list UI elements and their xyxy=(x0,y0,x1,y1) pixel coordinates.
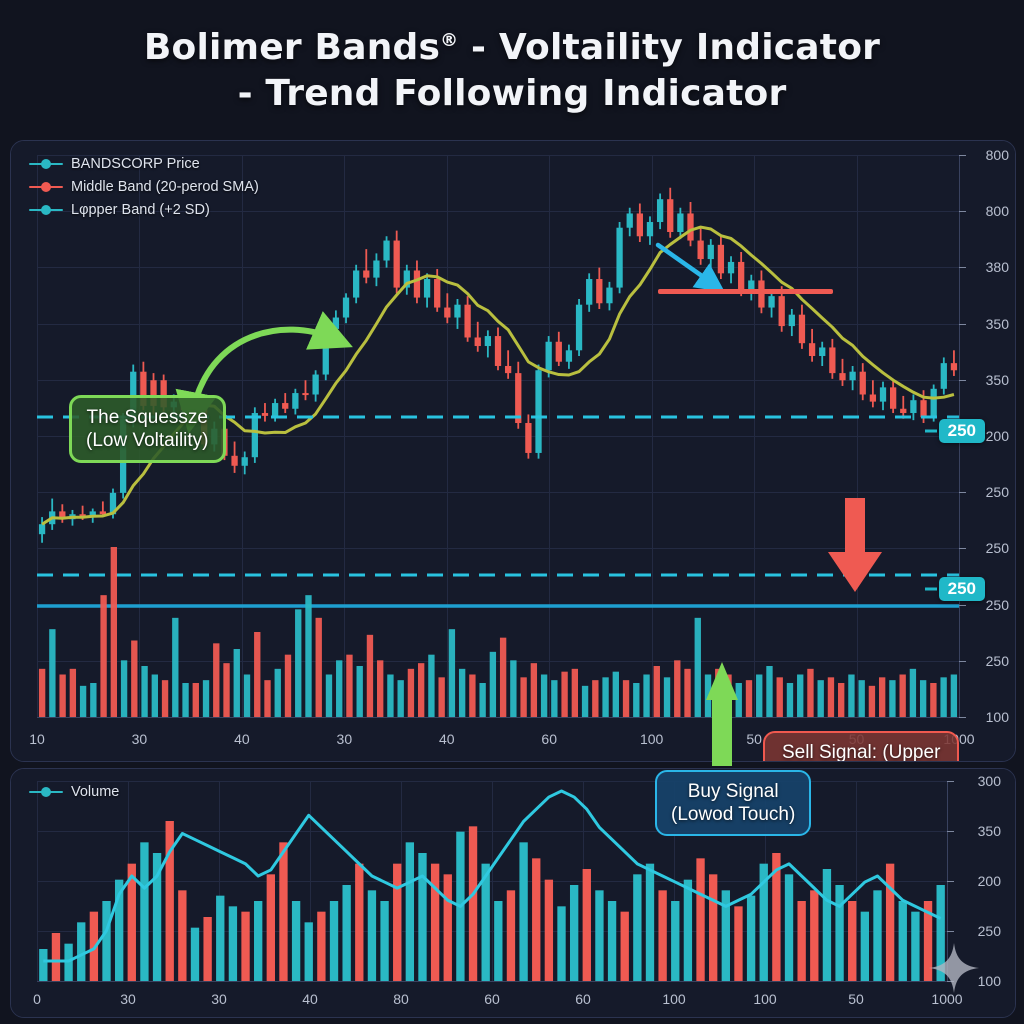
volume-y-tick-mark xyxy=(947,781,954,782)
main-y-tick-mark xyxy=(959,211,966,212)
chart-page: Bolimer Bands® - Voltaility Indicator - … xyxy=(0,0,1024,1024)
main-y-tick-label: 250 xyxy=(986,540,1009,556)
price-legend-item[interactable]: BANDSCORP Price xyxy=(29,153,259,174)
main-y-tick-mark xyxy=(959,605,966,606)
volume-chart-panel[interactable]: Volume 300350200250100 03030408060601001… xyxy=(10,768,1016,1018)
main-y-tick-mark xyxy=(959,267,966,268)
main-x-tick-label: 100 xyxy=(640,731,663,747)
volume-x-tick-label: 30 xyxy=(211,991,227,1007)
main-y-tick-mark xyxy=(959,661,966,662)
main-x-tick-label: 40 xyxy=(234,731,250,747)
volume-x-tick-label: 100 xyxy=(753,991,776,1007)
volume-x-tick-label: 40 xyxy=(302,991,318,1007)
main-y-tick-mark xyxy=(959,548,966,549)
main-y-tick-label: 250 xyxy=(986,653,1009,669)
title-line-2: - Trend Following Indicator xyxy=(0,71,1024,117)
title-subject: - Voltaility Indicator xyxy=(458,27,880,68)
annotation-buy-signal[interactable]: Buy Signal (Lowod Touch) xyxy=(655,770,811,836)
title-line-1: Bolimer Bands® - Voltaility Indicator xyxy=(0,18,1024,71)
price-badge: 250 xyxy=(939,577,985,601)
main-y-tick-mark xyxy=(959,717,966,718)
line-dot-marker-icon xyxy=(29,786,63,798)
price-badge: 250 xyxy=(939,419,985,443)
annotation-sell-line1: Sell Signal: (Upper xyxy=(779,741,943,762)
main-y-tick-mark xyxy=(959,324,966,325)
line-dot-marker-icon xyxy=(29,181,63,193)
price-legend-label: Middle Band (20-perod SMA) xyxy=(71,179,259,195)
volume-chart-legend: Volume xyxy=(29,781,119,804)
main-y-tick-mark xyxy=(959,492,966,493)
volume-x-tick-label: 30 xyxy=(120,991,136,1007)
main-x-tick-label: 30 xyxy=(132,731,148,747)
main-y-tick-label: 350 xyxy=(986,372,1009,388)
annotation-buy-line1: Buy Signal xyxy=(671,780,795,803)
main-x-tick-label: 30 xyxy=(337,731,353,747)
volume-x-tick-label: 60 xyxy=(575,991,591,1007)
main-y-tick-label: 800 xyxy=(986,147,1009,163)
annotation-squeeze-line2: (Low Voltaility) xyxy=(86,429,209,452)
main-price-chart-panel[interactable]: BANDSCORP PriceMiddle Band (20-perod SMA… xyxy=(10,140,1016,762)
volume-plot-background xyxy=(11,769,1015,1017)
volume-x-tick-label: 0 xyxy=(33,991,41,1007)
price-legend-item[interactable]: Lφpper Band (+2 SD) xyxy=(29,199,259,220)
line-dot-marker-icon xyxy=(29,158,63,170)
main-x-tick-label: 10 xyxy=(29,731,45,747)
annotation-squeeze-line1: The Squessze xyxy=(86,406,209,429)
volume-x-tick-label: 100 xyxy=(662,991,685,1007)
main-y-tick-label: 380 xyxy=(986,259,1009,275)
volume-y-tick-mark xyxy=(947,931,954,932)
main-chart-legend: BANDSCORP PriceMiddle Band (20-perod SMA… xyxy=(29,153,259,222)
sparkle-icon xyxy=(927,941,981,995)
volume-y-tick-label: 300 xyxy=(978,773,1001,789)
title-brand: Bolimer Bands xyxy=(144,27,440,68)
page-title: Bolimer Bands® - Voltaility Indicator - … xyxy=(0,18,1024,117)
main-x-tick-label: 60 xyxy=(541,731,557,747)
volume-x-tick-label: 80 xyxy=(393,991,409,1007)
volume-y-tick-mark xyxy=(947,881,954,882)
volume-y-tick-label: 350 xyxy=(978,823,1001,839)
main-y-tick-mark xyxy=(959,155,966,156)
main-x-tick-label: 40 xyxy=(439,731,455,747)
main-y-tick-label: 250 xyxy=(986,597,1009,613)
volume-x-tick-label: 60 xyxy=(484,991,500,1007)
price-legend-label: BANDSCORP Price xyxy=(71,156,200,172)
main-y-tick-label: 800 xyxy=(986,203,1009,219)
volume-x-tick-label: 50 xyxy=(848,991,864,1007)
registered-mark-icon: ® xyxy=(440,30,458,51)
main-y-tick-label: 250 xyxy=(986,484,1009,500)
annotation-sell-signal[interactable]: Sell Signal: (Upper (Barer Band Touch) xyxy=(763,731,959,762)
line-dot-marker-icon xyxy=(29,204,63,216)
volume-y-tick-label: 100 xyxy=(978,973,1001,989)
main-y-tick-label: 200 xyxy=(986,428,1009,444)
main-x-tick-label: 50 xyxy=(746,731,762,747)
price-legend-label: Lφpper Band (+2 SD) xyxy=(71,202,210,218)
volume-y-tick-label: 250 xyxy=(978,923,1001,939)
main-y-tick-mark xyxy=(959,380,966,381)
volume-legend-label: Volume xyxy=(71,784,119,800)
volume-legend-item[interactable]: Volume xyxy=(29,781,119,802)
volume-y-tick-mark xyxy=(947,831,954,832)
price-legend-item[interactable]: Middle Band (20-perod SMA) xyxy=(29,176,259,197)
annotation-buy-line2: (Lowod Touch) xyxy=(671,803,795,826)
annotation-squeeze[interactable]: The Squessze (Low Voltaility) xyxy=(69,395,226,463)
main-y-tick-label: 100 xyxy=(986,709,1009,725)
volume-y-tick-label: 200 xyxy=(978,873,1001,889)
main-y-tick-label: 350 xyxy=(986,316,1009,332)
